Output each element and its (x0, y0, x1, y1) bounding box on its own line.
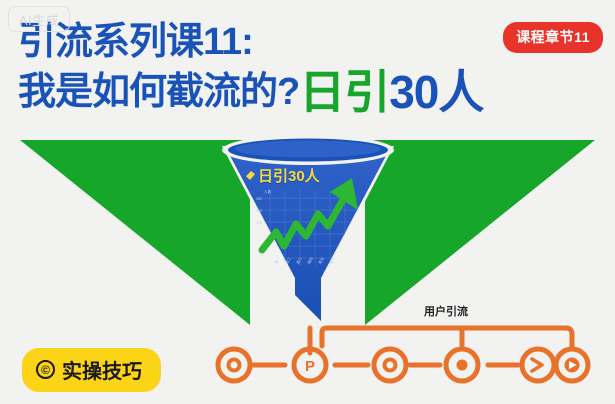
svg-text:P: P (305, 358, 315, 375)
node-dot-4 (446, 349, 478, 381)
headline-highlight-number: 30人 (389, 68, 483, 116)
headline-highlight-green: 日引 (299, 68, 389, 116)
mini-chart-ytick-300: 300 (256, 197, 262, 201)
node-dot-3 (374, 349, 406, 381)
user-flow-diagram: P (200, 298, 615, 404)
tips-badge-label: 实操技巧 (62, 355, 142, 384)
leaf-icon (246, 171, 255, 180)
node-dot-1 (218, 349, 250, 381)
headline-line-1: 引流系列课11: (18, 18, 483, 66)
ai-watermark-text: AI生成 (19, 10, 59, 29)
copyright-icon: © (36, 360, 55, 379)
node-play-5 (522, 349, 554, 381)
mini-chart-ylabel: 人数 (264, 190, 271, 195)
headline-line2-text: 我是如何截流的? (18, 68, 299, 116)
node-play-6 (556, 349, 588, 381)
tips-badge: © 实操技巧 (22, 348, 161, 392)
mini-chart-ytick-100: 100 (256, 221, 262, 225)
flow-label: 用户引流 (424, 303, 468, 319)
ai-watermark: AI生成 (8, 6, 70, 32)
poster-canvas: 日引30人 人数 300 200 100 周一 周二 周三 周四 周五 周六 (0, 0, 615, 404)
chapter-badge: 课程章节11 (503, 22, 603, 53)
mini-chart-ytick-200: 200 (256, 209, 262, 213)
funnel-label: 日引30人 (246, 165, 320, 186)
headline-block: 引流系列课11: 我是如何截流的? 日引 30人 (18, 18, 483, 116)
funnel-label-text: 日引30人 (258, 165, 320, 186)
headline-line-2: 我是如何截流的? 日引 30人 (18, 68, 483, 116)
